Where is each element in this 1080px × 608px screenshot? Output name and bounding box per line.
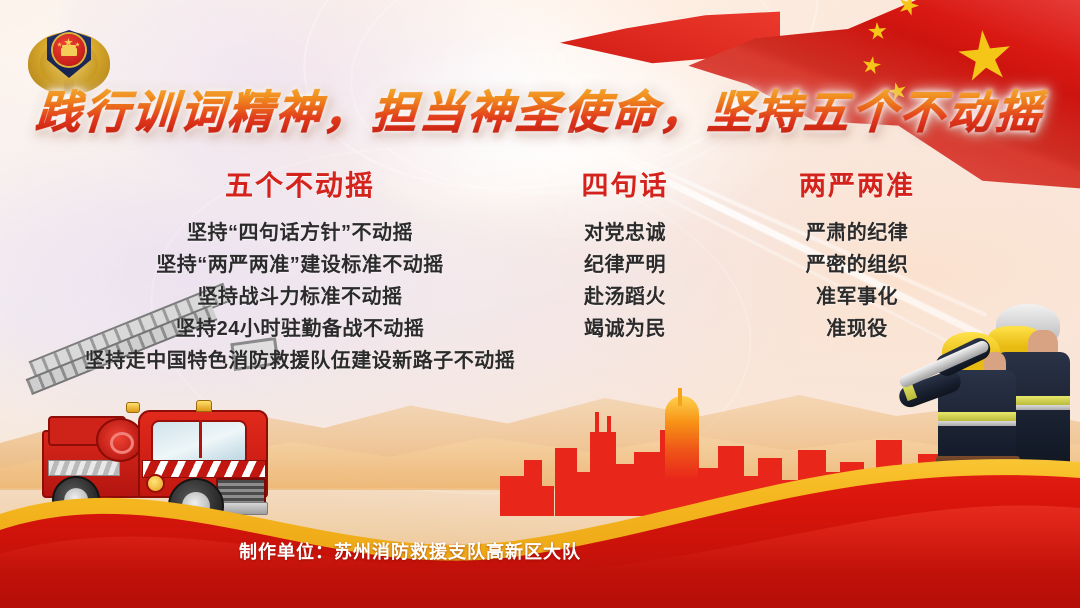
skyline-building <box>540 486 554 516</box>
column-lines: 坚持“四句话方针”不动摇 坚持“两严两准”建设标准不动摇 坚持战斗力标准不动摇 … <box>0 217 600 377</box>
truck-wheel <box>52 476 100 524</box>
reflective-stripe <box>938 421 1016 426</box>
column-line: 严密的组织 <box>757 249 957 281</box>
column-line: 坚持战斗力标准不动摇 <box>0 281 600 313</box>
column-line: 严肃的纪律 <box>757 217 957 249</box>
column-line: 竭诚为民 <box>525 313 725 345</box>
truck-beacon-light <box>196 400 212 412</box>
column-line: 赴汤蹈火 <box>525 281 725 313</box>
column-five-unwavering: 五个不动摇 坚持“四句话方针”不动摇 坚持“两严两准”建设标准不动摇 坚持战斗力… <box>0 164 600 377</box>
skyline-building <box>500 476 526 516</box>
column-line: 对党忠诚 <box>525 217 725 249</box>
skyline-building <box>718 446 744 516</box>
truck-windshield-divider <box>199 420 202 458</box>
skyline-building <box>798 450 826 516</box>
column-lines: 严肃的纪律 严密的组织 准军事化 准现役 <box>757 217 957 345</box>
truck-wheel-hub <box>182 492 210 520</box>
truck-headlight <box>146 474 165 493</box>
skyline-building <box>840 462 864 516</box>
truck-beacon-light <box>126 402 140 413</box>
skyline-building <box>698 468 720 516</box>
skyline-antenna <box>595 412 599 516</box>
page-title: 践行训词精神，担当神圣使命，坚持五个不动摇 <box>0 76 1080 141</box>
column-heading: 四句话 <box>525 164 725 203</box>
column-line: 坚持“四句话方针”不动摇 <box>0 217 600 249</box>
column-heading: 五个不动摇 <box>0 164 600 204</box>
skyline-antenna <box>607 416 611 516</box>
skyline-building <box>780 480 800 516</box>
truck-wheel-hub <box>64 488 88 512</box>
truck-wheel <box>168 478 224 534</box>
column-line: 准现役 <box>757 313 957 345</box>
skyline-building <box>616 464 636 516</box>
column-line: 坚持走中国特色消防救援队伍建设新路子不动摇 <box>0 345 600 377</box>
column-line: 坚持24小时驻勤备战不动摇 <box>0 313 600 345</box>
badge-tiananmen-gate <box>61 48 77 56</box>
column-heading: 两严两准 <box>757 164 957 203</box>
truck-side-stripes <box>48 460 120 476</box>
column-line: 坚持“两严两准”建设标准不动摇 <box>0 249 600 281</box>
column-line: 纪律严明 <box>525 249 725 281</box>
skyline-building <box>590 432 616 516</box>
poster-canvas: 践行训词精神，担当神圣使命，坚持五个不动摇 <box>0 0 1080 608</box>
truck-hose-reel <box>96 418 144 462</box>
skyline-building <box>758 458 782 516</box>
ladder-fire-truck-icon <box>18 356 298 536</box>
column-two-strict-two-standard: 两严两准 严肃的纪律 严密的组织 准军事化 准现役 <box>757 164 957 345</box>
footer-credit: 制作单位：苏州消防救援支队高新区大队 <box>200 538 620 564</box>
skyline-landmark-tower <box>665 396 699 516</box>
column-line: 准军事化 <box>757 281 957 313</box>
reflective-stripe <box>938 412 1016 421</box>
column-four-sentences: 四句话 对党忠诚 纪律严明 赴汤蹈火 竭诚为民 <box>525 164 725 345</box>
column-lines: 对党忠诚 纪律严明 赴汤蹈火 竭诚为民 <box>525 217 725 345</box>
skyline-tower-spire <box>678 388 682 406</box>
skyline-building <box>634 452 662 516</box>
reflective-stripe <box>942 484 1012 492</box>
skyline-building <box>555 448 577 516</box>
